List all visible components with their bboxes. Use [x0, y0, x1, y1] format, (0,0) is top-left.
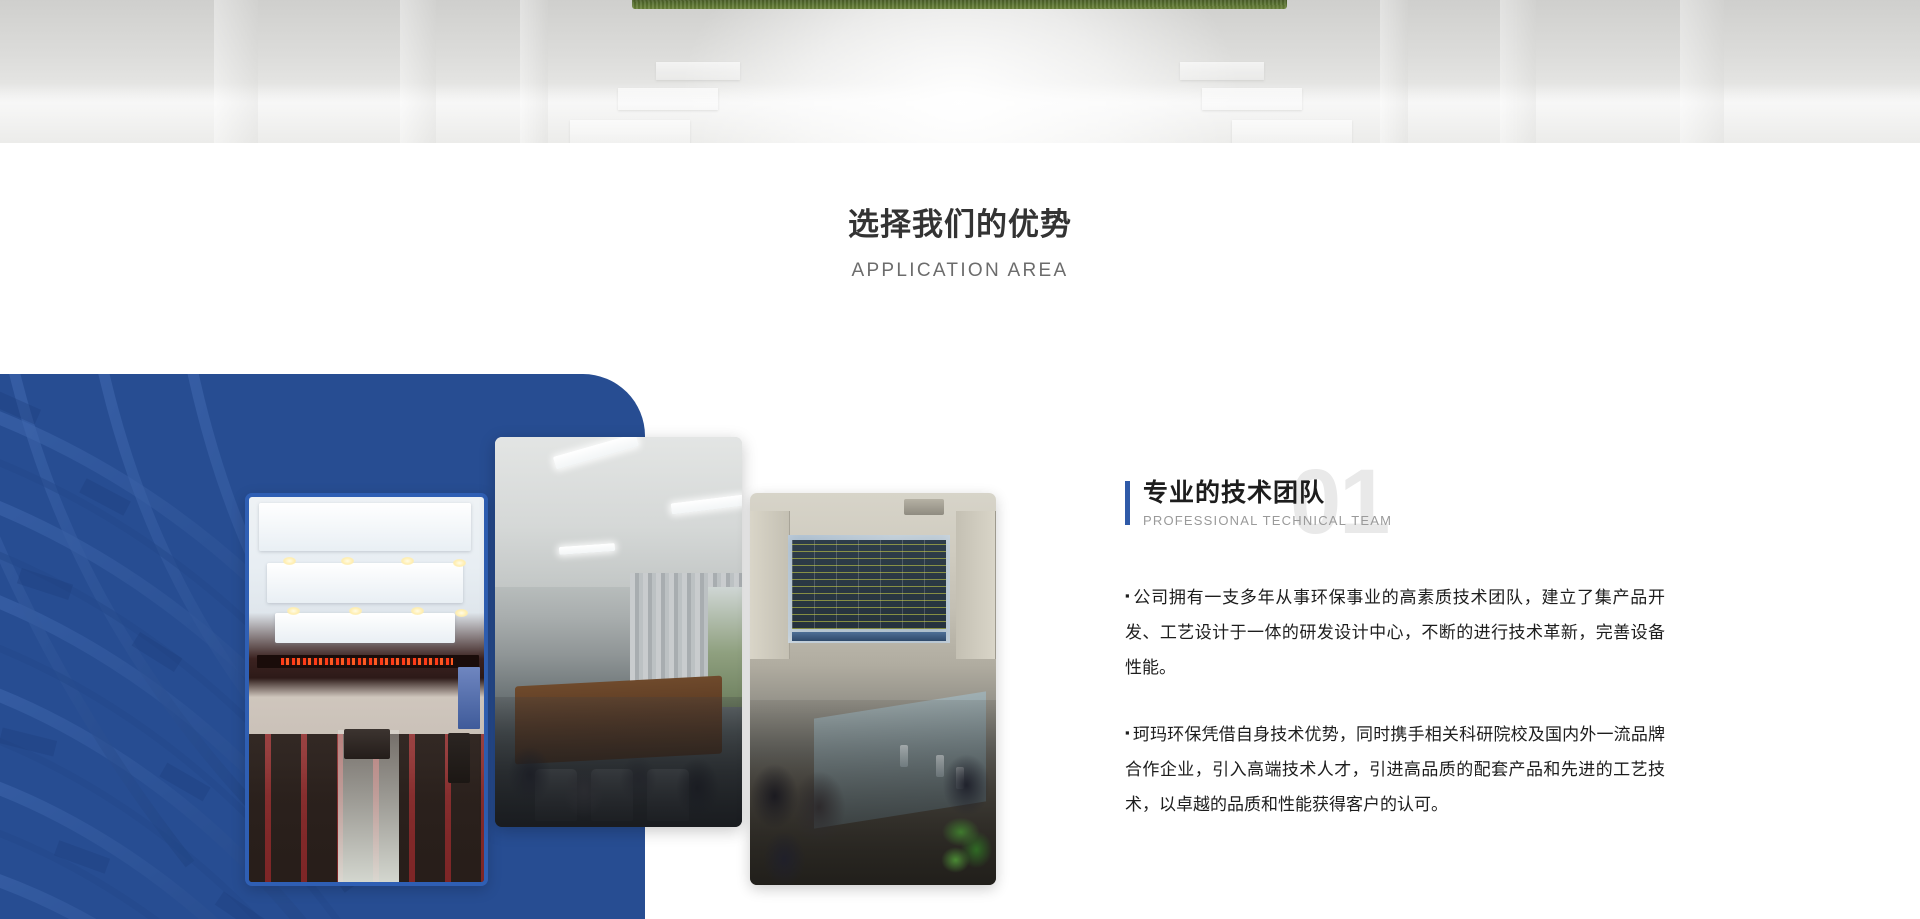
- feature-heading-block: 01 专业的技术团队 PROFESSIONAL TECHNICAL TEAM: [1125, 478, 1665, 552]
- projection-screen: [788, 535, 950, 643]
- photo-projector-presentation[interactable]: [750, 493, 996, 885]
- feature-paragraph-2-text: 珂玛环保凭借自身技术优势，同时携手相关科研院校及国内外一流品牌合作企业，引入高端…: [1125, 725, 1665, 814]
- photo-meeting-room[interactable]: [495, 437, 742, 827]
- feature-paragraph-1-text: 公司拥有一支多年从事环保事业的高素质技术团队，建立了集产品开发、工艺设计于一体的…: [1125, 588, 1665, 677]
- bullet-icon: ▪: [1125, 588, 1130, 603]
- meeting-room-image: [495, 437, 742, 827]
- feature-heading-en: PROFESSIONAL TECHNICAL TEAM: [1143, 513, 1665, 528]
- top-banner: [0, 0, 1920, 143]
- bullet-icon: ▪: [1125, 725, 1130, 740]
- section-subtitle: APPLICATION AREA: [0, 260, 1920, 282]
- camera-tripod: [448, 733, 470, 783]
- feature-content: 01 专业的技术团队 PROFESSIONAL TECHNICAL TEAM ▪…: [1125, 478, 1665, 822]
- banner-grass-strip: [632, 0, 1287, 9]
- colonnade-structure: [0, 0, 1920, 143]
- section-title: 选择我们的优势: [0, 205, 1920, 245]
- seated-attendees: [495, 697, 742, 827]
- feature-heading-cn: 专业的技术团队: [1143, 478, 1665, 509]
- section-header: 选择我们的优势 APPLICATION AREA: [0, 205, 1920, 282]
- photo-conference-hall[interactable]: [245, 493, 488, 886]
- feature-paragraph-1: ▪公司拥有一支多年从事环保事业的高素质技术团队，建立了集产品开发、工艺设计于一体…: [1125, 578, 1665, 685]
- led-banner: [257, 655, 479, 668]
- projector-meeting-image: [750, 493, 996, 885]
- conference-hall-image: [249, 497, 484, 882]
- potted-plant: [940, 811, 992, 881]
- feature-paragraph-2: ▪珂玛环保凭借自身技术优势，同时携手相关科研院校及国内外一流品牌合作企业，引入高…: [1125, 715, 1665, 822]
- page-root: 选择我们的优势 APPLICATION AREA: [0, 0, 1920, 919]
